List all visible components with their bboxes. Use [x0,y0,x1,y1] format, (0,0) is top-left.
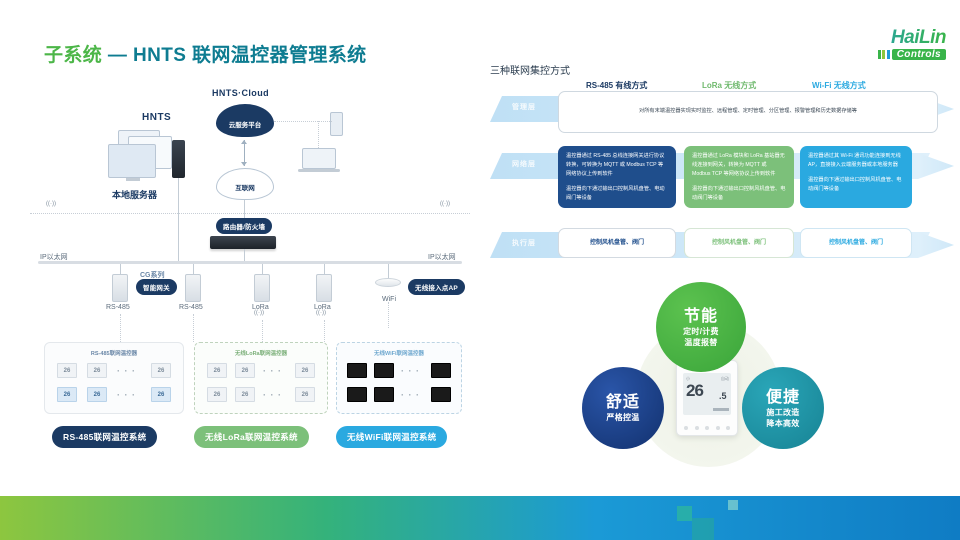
thermostat-item[interactable] [347,387,367,402]
thermostat-item[interactable]: 26 [235,387,255,402]
thermostat-item[interactable]: 26 [87,387,107,402]
card-rs485: 温控器通过 RS-485 总线连接网关进行协议转换，可转换为 MQTT 或 Mo… [558,146,676,208]
group-lora: 无线LoRa联网温控器 26 26 · · · 26 26 26 · · · 2… [194,342,328,414]
ethernet-left-label: IP以太网 [40,252,68,262]
benefit-circle-energy[interactable]: 节能 定时/计费 温度报替 [656,282,746,372]
phone-icon [330,112,343,136]
internet-cloud-icon: 互联网 [216,168,274,200]
thermostat-item[interactable]: 26 [295,363,315,378]
logo-bars-icon [878,50,890,59]
cloud-to-laptop-link [318,121,319,148]
ap-line [388,264,389,278]
router-down-line [244,249,245,261]
gw2-line [193,264,194,274]
benefit-energy-line1: 定时/计费 [683,326,719,337]
system-pill-lora[interactable]: 无线LoRa联网温控系统 [194,426,309,448]
card-wifi: 温控器通过其 Wi-Fi 通讯功能连接到无线 AP，直接接入云端服务器或本地服务… [800,146,912,208]
gateway-3[interactable] [254,274,270,302]
card-lora-p1: 温控器通过 LoRa 模块和 LoRa 基站器无线连接到网关，转换为 MQTT … [692,152,786,179]
column-header-rs485: RS-485 有线方式 [586,80,647,91]
server-tower-icon [172,140,185,178]
cloud-title: HNTS·Cloud [212,88,269,98]
hnts-label: HNTS [142,112,171,123]
logo-subtitle: Controls [892,49,946,60]
laptop-icon [302,148,336,169]
thermostat-temp-decimal: .5 [719,391,727,401]
group-rs485: RS-485联网温控器 26 26 · · · 26 26 26 · · · 2… [44,342,184,414]
cloud-platform-label: 云服务平台 [216,119,274,129]
brand-logo: HaiLin Controls [834,28,946,64]
column-header-lora: LoRa 无线方式 [702,80,756,91]
cloud-platform-icon: 云服务平台 [216,104,274,137]
group-rs485-ellipsis: · · · [117,366,136,376]
card-exec-rs485-text: 控制风机盘管、阀门 [590,238,644,249]
group-lora-ellipsis-2: · · · [263,390,282,400]
gw3-line [262,264,263,274]
group-wifi: 无线WiFi联网温控器 · · · · · · [336,342,462,414]
thermostat-item[interactable] [374,363,394,378]
group-wifi-ellipsis-2: · · · [401,390,420,400]
card-rs485-p1: 温控器通过 RS-485 总线连接网关进行协议转换，可转换为 MQTT 或 Mo… [566,152,668,179]
benefit-circle-comfort[interactable]: 舒适 严格控温 [582,367,664,449]
thermostat-item[interactable]: 26 [151,387,171,402]
gateway-label: 智能网关 [136,279,177,295]
gateway-1-bus-label: RS-485 [106,304,130,311]
wifi-sym-left: ((·)) [46,201,56,207]
card-exec-lora-text: 控制风机盘管、阀门 [712,238,766,249]
footer-square-3 [728,500,738,510]
gateway-1[interactable] [112,274,128,302]
server-trunk-line [178,178,179,261]
benefit-convenience-title: 便捷 [766,388,800,407]
thermostat-item[interactable]: 26 [207,387,227,402]
thermostat-item[interactable]: 26 [207,363,227,378]
gw1-line [120,264,121,274]
card-wifi-p1: 温控器通过其 Wi-Fi 通讯功能连接到无线 AP，直接接入云端服务器或本地服务… [808,152,904,170]
router-device-icon [210,236,276,249]
card-wifi-p2: 温控器向下通过输出口控制风机盘管、电动阀门等设备 [808,176,904,194]
layer-band-network-label: 网络层 [512,159,536,169]
monitor-front [108,144,156,178]
grp2-down-a [262,320,263,342]
thermostat-item[interactable]: 26 [235,363,255,378]
group-lora-title: 无线LoRa联网温控器 [195,349,327,357]
wifi-sym-right: ((·)) [440,201,450,207]
gateway-2[interactable] [185,274,201,302]
topology-diagram: HNTS HNTS·Cloud 本地服务器 云服务平台 互联网 [30,88,470,448]
thermostat-temp-value: 26 [686,381,703,401]
flow-heading: 三种联网集控方式 [490,62,570,77]
lora-wave-icon-1: ((·)) [254,310,264,316]
thermostat-item[interactable]: 26 [87,363,107,378]
benefit-comfort-line1: 严格控温 [606,412,639,423]
group-wifi-title: 无线WiFi联网温控器 [337,349,461,357]
layer-band-management-label: 管理层 [512,102,536,112]
card-exec-wifi-text: 控制风机盘管、阀门 [829,238,883,249]
card-lora-p2: 温控器向下通过输出口控制风机盘管、电动阀门等设备 [692,185,786,203]
thermostat-item[interactable]: 26 [295,387,315,402]
router-label: 路由器/防火墙 [216,218,272,234]
thermostat-bar-icon [713,408,729,411]
ethernet-right-label: IP以太网 [428,252,456,262]
ap-wifi-label: WiFi [382,296,396,303]
benefit-energy-line2: 温度报替 [684,337,717,348]
local-server-label: 本地服务器 [112,188,157,201]
benefit-convenience-line2: 降本高效 [766,418,799,429]
benefit-comfort-title: 舒适 [606,393,640,412]
thermostat-item[interactable] [431,363,451,378]
benefit-convenience-line1: 施工改造 [766,407,799,418]
gateway-4[interactable] [316,274,332,302]
flow-diagram: 三种联网集控方式 RS-485 有线方式 LoRa 无线方式 Wi-Fi 无线方… [490,60,955,270]
internet-trunk-line [244,200,245,218]
thermostat-item[interactable] [347,363,367,378]
arrow-down-head [241,162,247,166]
column-header-wifi: Wi-Fi 无线方式 [812,80,866,91]
grp2-down-b [324,320,325,342]
card-exec-wifi: 控制风机盘管、阀门 [800,228,912,258]
wireless-boundary-line [30,213,470,214]
group-lora-ellipsis: · · · [263,366,282,376]
thermostat-item[interactable]: 26 [57,363,77,378]
grp1-down-a [120,314,121,342]
grp1-down-b [193,314,194,342]
page-title-main: — HNTS 联网温控器管理系统 [108,45,367,66]
card-management: 对所有末端温控器实现实时监控、远程管理、定时管理、分区管理、报警管理和历史数据存… [558,91,938,133]
thermostat-item[interactable]: 26 [151,363,171,378]
system-pill-wifi[interactable]: 无线WiFi联网温控系统 [336,426,447,448]
page-title: 子系统 — HNTS 联网温控器管理系统 [44,40,367,67]
thermostat-buttons[interactable] [684,426,730,430]
benefit-circle-convenience[interactable]: 便捷 施工改造 降本高效 [742,367,824,449]
gw4-line [324,264,325,274]
cloud-to-devices-link [274,121,332,122]
thermostat-item[interactable] [431,387,451,402]
ap-label: 无线接入点AP [408,279,465,295]
laptop-base [298,169,340,172]
card-lora: 温控器通过 LoRa 模块和 LoRa 基站器无线连接到网关，转换为 MQTT … [684,146,794,208]
thermostat-mode-label: 自动 [721,376,729,382]
card-exec-lora: 控制风机盘管、阀门 [684,228,794,258]
footer-square-1 [677,506,692,521]
gateway-2-bus-label: RS-485 [179,304,203,311]
thermostat-item[interactable] [374,387,394,402]
group-wifi-ellipsis: · · · [401,366,420,376]
benefit-circles: 小 自动 26 .5 节能 定时/计费 温度报替 舒适 严格控温 便捷 施工改造… [560,282,850,467]
group-rs485-title: RS-485联网温控器 [45,349,183,357]
layer-band-execution-label: 执行层 [512,238,536,248]
benefit-energy-title: 节能 [684,307,718,326]
page-title-prefix: 子系统 [44,45,102,66]
ethernet-bus [38,261,462,264]
card-rs485-p2: 温控器向下通过输出口控制风机盘管、电动阀门等设备 [566,185,668,203]
card-management-text: 对所有末端温控器实现实时监控、远程管理、定时管理、分区管理、报警管理和历史数据存… [639,107,857,116]
thermostat-item[interactable]: 26 [57,387,77,402]
wireless-ap-icon[interactable] [375,278,401,287]
logo-wordmark: HaiLin [834,28,946,48]
internet-label: 互联网 [216,182,274,192]
footer-square-2 [692,518,714,540]
system-pill-rs485[interactable]: RS-485联网温控系统 [52,426,157,448]
monitor-stand [126,178,140,181]
lora-wave-icon-2: ((·)) [316,310,326,316]
ap-down-line [388,302,389,328]
card-exec-rs485: 控制风机盘管、阀门 [558,228,676,258]
group-rs485-ellipsis-2: · · · [117,390,136,400]
arrow-up-head [241,140,247,144]
footer-band [0,496,960,540]
slide-root: 子系统 — HNTS 联网温控器管理系统 HaiLin Controls HNT… [0,0,960,540]
